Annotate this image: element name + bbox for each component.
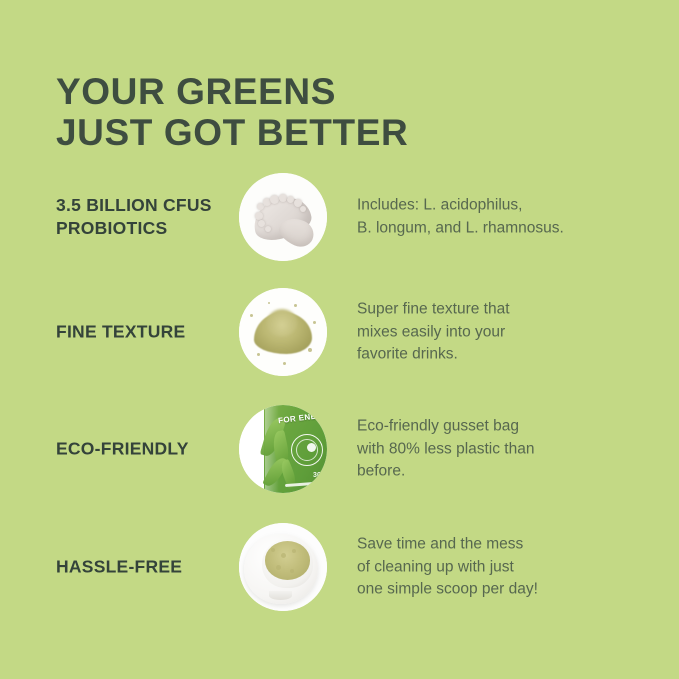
description-line-2: of cleaning up with just xyxy=(357,556,657,579)
powder-speck xyxy=(308,348,312,352)
description-line-2: mixes easily into your xyxy=(357,321,657,344)
page-title-line-2: JUST GOT BETTER xyxy=(56,112,408,153)
feature-label-line-1: HASSLE-FREE xyxy=(56,557,182,577)
feature-label-line-1: FINE TEXTURE xyxy=(56,322,185,342)
page-title: YOUR GREENS JUST GOT BETTER xyxy=(56,71,408,153)
scoop-saucer-artwork xyxy=(239,523,327,611)
feature-label-probiotics: 3.5 BILLION CFUS PROBIOTICS xyxy=(56,194,236,240)
product-benefits-infographic: YOUR GREENS JUST GOT BETTER 3.5 BILLION … xyxy=(0,0,679,679)
probiotic-powder-scoop-photo xyxy=(239,173,327,261)
feature-description-hassle-free: Save time and the mess of cleaning up wi… xyxy=(357,533,657,601)
scoop-handle-shape xyxy=(269,591,292,600)
eco-gusset-bag-photo: FOR ENE 30 xyxy=(239,405,327,493)
powder-grain xyxy=(258,220,265,227)
green-powder-artwork xyxy=(239,288,327,376)
powder-grain xyxy=(287,196,294,203)
powder-grain xyxy=(290,569,294,573)
powder-grain xyxy=(255,212,263,220)
feature-description-eco-friendly: Eco-friendly gusset bag with 80% less pl… xyxy=(357,415,657,483)
feature-label-line-2: PROBIOTICS xyxy=(56,218,167,238)
powder-scoop-on-saucer-photo xyxy=(239,523,327,611)
description-line-1: Eco-friendly gusset bag xyxy=(357,415,657,438)
feature-label-line-1: ECO-FRIENDLY xyxy=(56,439,189,459)
powder-grain xyxy=(271,548,275,552)
description-line-3: before. xyxy=(357,460,657,483)
probiotic-powder-artwork xyxy=(239,173,327,261)
description-line-3: one simple scoop per day! xyxy=(357,578,657,601)
powder-pile-highlight xyxy=(267,309,297,335)
powder-grain xyxy=(270,195,279,204)
feature-row: 3.5 BILLION CFUS PROBIOTICS xyxy=(0,160,679,274)
powder-grain xyxy=(300,206,306,212)
eco-bag-artwork: FOR ENE 30 xyxy=(239,405,327,493)
feature-row: HASSLE-FREE Save time and the mess of xyxy=(0,508,679,626)
powder-speck xyxy=(294,304,297,307)
description-line-2: B. longum, and L. rhamnosus. xyxy=(357,217,657,240)
feature-label-hassle-free: HASSLE-FREE xyxy=(56,556,236,579)
powder-speck xyxy=(268,302,270,304)
bag-badge-text: 30 xyxy=(313,472,321,479)
powder-speck xyxy=(257,353,260,356)
powder-grain xyxy=(279,194,287,202)
feature-row: ECO-FRIENDLY FOR ENE 30 E xyxy=(0,390,679,508)
feature-label-fine-texture: FINE TEXTURE xyxy=(56,321,236,344)
powder-speck xyxy=(283,362,286,365)
powder-speck xyxy=(250,314,253,317)
description-line-2: with 80% less plastic than xyxy=(357,438,657,461)
feature-list: 3.5 BILLION CFUS PROBIOTICS xyxy=(0,160,679,626)
description-line-1: Save time and the mess xyxy=(357,533,657,556)
bag-seal-dot-icon xyxy=(307,443,316,452)
powder-speck xyxy=(313,321,316,324)
feature-row: FINE TEXTURE Super fine texture that xyxy=(0,274,679,390)
feature-label-eco-friendly: ECO-FRIENDLY xyxy=(56,438,236,461)
green-powder-pile-photo xyxy=(239,288,327,376)
feature-label-line-1: 3.5 BILLION CFUS xyxy=(56,195,212,215)
page-title-line-1: YOUR GREENS xyxy=(56,71,408,112)
feature-description-probiotics: Includes: L. acidophilus, B. longum, and… xyxy=(357,195,657,240)
description-line-3: favorite drinks. xyxy=(357,343,657,366)
feature-description-fine-texture: Super fine texture that mixes easily int… xyxy=(357,298,657,366)
description-line-1: Super fine texture that xyxy=(357,298,657,321)
description-line-1: Includes: L. acidophilus, xyxy=(357,195,657,218)
